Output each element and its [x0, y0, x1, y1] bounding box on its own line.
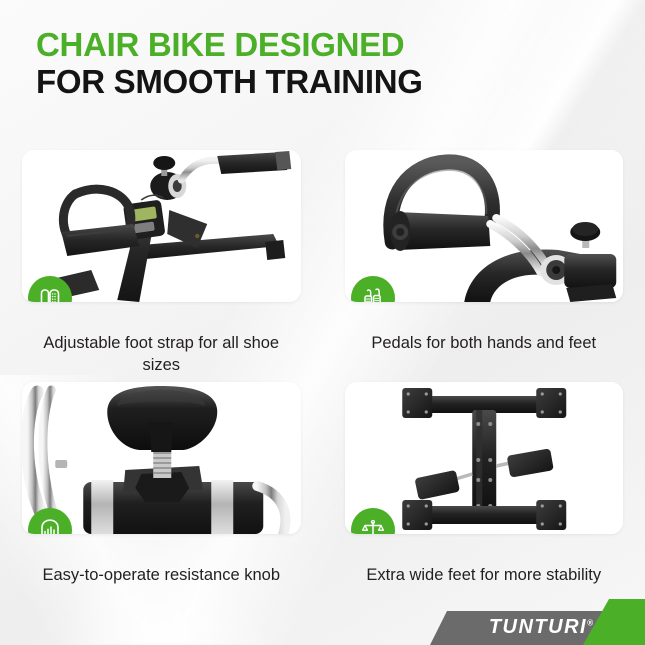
feature-caption-1: Adjustable foot strap for all shoe sizes	[22, 332, 301, 378]
tunturi-wordmark: TUNTURI	[489, 616, 587, 638]
headline: CHAIR BIKE DESIGNED FOR SMOOTH TRAINING	[36, 26, 616, 100]
feature-grid: Adjustable foot strap for all shoe sizes	[0, 146, 645, 610]
feature-row-bottom: Easy-to-operate resistance knob	[0, 378, 645, 610]
feature-cell-3: Easy-to-operate resistance knob	[0, 378, 323, 610]
feature-cell-4: Extra wide feet for more stability	[323, 378, 645, 610]
feature-photo-4	[345, 382, 624, 534]
feature-photo-2	[345, 150, 624, 302]
feature-row-top: Adjustable foot strap for all shoe sizes	[0, 146, 645, 378]
footer: TUNTURI®	[0, 603, 645, 645]
product-infographic: CHAIR BIKE DESIGNED FOR SMOOTH TRAINING	[0, 0, 645, 645]
registered-trademark-symbol: ®	[587, 618, 593, 627]
headline-line-1: CHAIR BIKE DESIGNED	[36, 26, 616, 63]
feature-card-2	[345, 150, 624, 302]
feature-cell-1: Adjustable foot strap for all shoe sizes	[0, 146, 323, 378]
feature-card-4	[345, 382, 624, 534]
feature-photo-3	[22, 382, 301, 534]
feature-card-3	[22, 382, 301, 534]
headline-line-2: FOR SMOOTH TRAINING	[36, 63, 616, 100]
feature-cell-2: Pedals for both hands and feet	[323, 146, 645, 378]
feature-caption-2: Pedals for both hands and feet	[345, 332, 624, 378]
feature-photo-1	[22, 150, 301, 302]
feature-card-1	[22, 150, 301, 302]
tunturi-logo: TUNTURI®	[489, 616, 593, 639]
